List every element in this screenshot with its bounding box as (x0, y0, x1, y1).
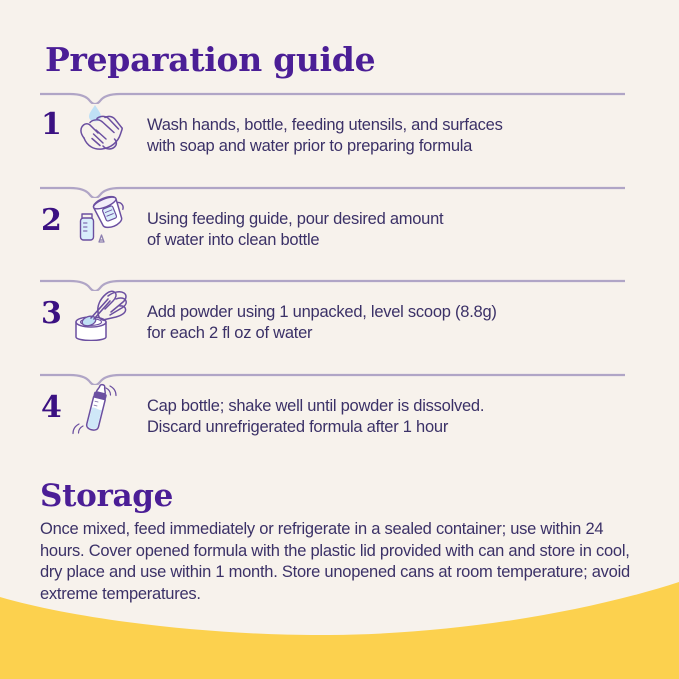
preparation-guide-page: Preparation guide 1 (0, 0, 679, 679)
step-number-2: 2 (41, 206, 62, 236)
step-number-4: 4 (41, 393, 62, 423)
step-text-1: Wash hands, bottle, feeding utensils, an… (147, 115, 503, 156)
page-title: Preparation guide (45, 41, 375, 79)
step-text-4: Cap bottle; shake well until powder is d… (147, 396, 484, 437)
shaking-capped-bottle-icon (70, 382, 126, 438)
measuring-jug-pouring-into-bottle-icon (74, 194, 134, 246)
washing-hands-icon (73, 102, 131, 152)
step-number-3: 3 (41, 299, 62, 329)
step-number-1: 1 (41, 110, 62, 140)
step-text-3: Add powder using 1 unpacked, level scoop… (147, 302, 497, 343)
storage-title: Storage (40, 478, 173, 514)
hand-with-scoop-over-can-icon (64, 287, 136, 341)
yellow-wave-band (0, 579, 679, 679)
step-text-2: Using feeding guide, pour desired amount… (147, 209, 443, 250)
step-divider-4 (40, 369, 625, 385)
